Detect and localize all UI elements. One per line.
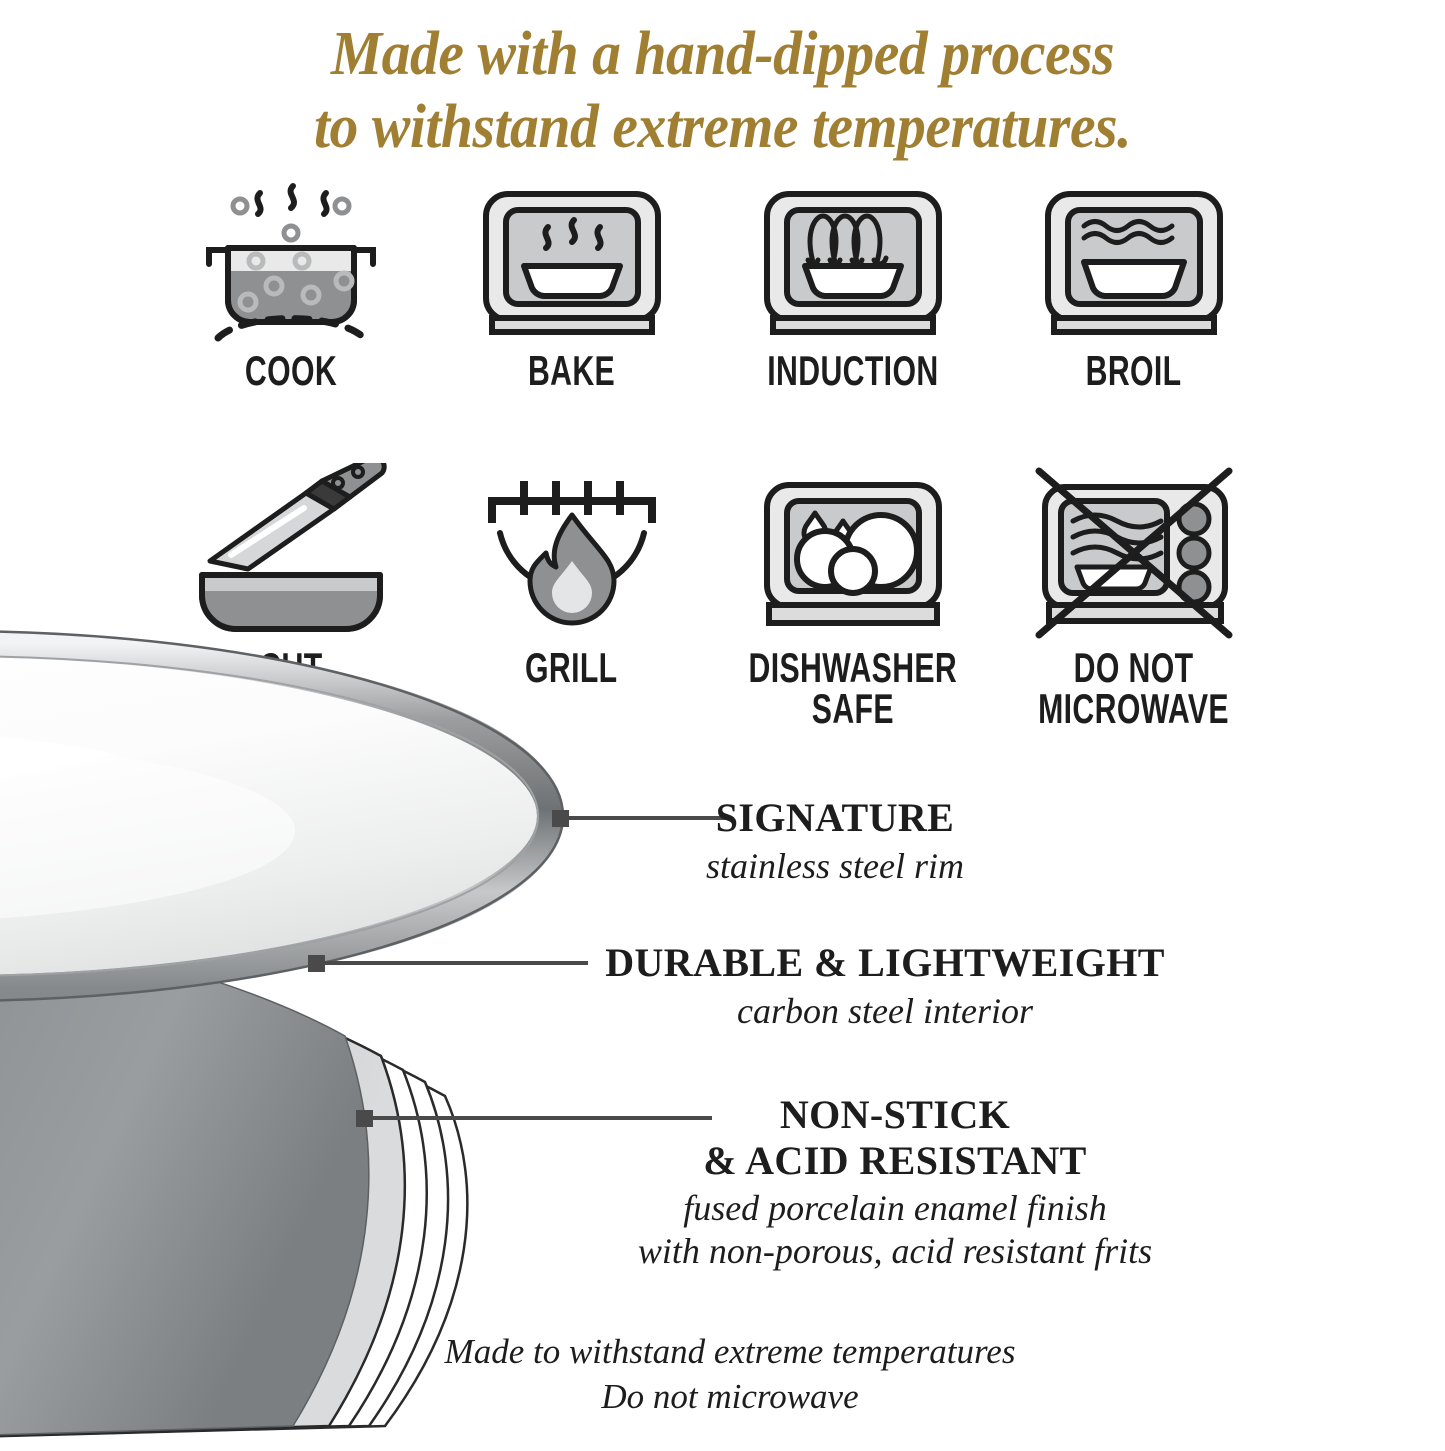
callout-title-line-1: NON-STICK [780,1092,1010,1137]
icon-row-1: COOK [150,176,1350,391]
callout-subtitle-line-1: stainless steel rim [625,845,1045,888]
icon-label-text: COOK [244,347,336,394]
cookware-illustration [0,626,645,1446]
icon-cell-cook: COOK [150,176,431,391]
icon-label-broil: BROIL [1086,350,1182,391]
callout-subtitle-line-1: fused porcelain enamel finish [545,1187,1245,1230]
icon-cell-induction: INDUCTION [712,176,993,391]
footer-line-1: Made to withstand extreme temperatures [420,1330,1040,1375]
icon-label-text: INDUCTION [767,347,938,394]
callout-title: SIGNATURE [625,795,1045,841]
icon-label-text: BAKE [528,347,615,394]
callout-signature: SIGNATURE stainless steel rim [625,795,1045,888]
callout-title-line-1: SIGNATURE [716,795,954,840]
induction-icon [753,176,953,344]
bake-icon [472,176,672,344]
callout-title: NON-STICK & ACID RESISTANT [545,1092,1245,1183]
callout-subtitle-line-1: carbon steel interior [585,990,1185,1033]
icon-cell-bake: BAKE [431,176,712,391]
callout-title-line-2: & ACID RESISTANT [545,1138,1245,1184]
icon-label-cook: COOK [244,350,336,391]
icon-label-bake: BAKE [528,350,615,391]
page-title: Made with a hand-dipped process to withs… [51,18,1395,164]
icon-label-text: DISHWASHER [748,644,957,691]
icon-label-text: BROIL [1086,347,1182,394]
callout-durable-lightweight: DURABLE & LIGHTWEIGHT carbon steel inter… [585,940,1185,1033]
grill-icon [472,463,672,641]
icon-label-dishwasher-safe: DISHWASHER SAFE [748,647,957,729]
callout-subtitle-line-2: with non-porous, acid resistant frits [545,1230,1245,1273]
infographic-canvas: Made with a hand-dipped process to withs… [0,0,1445,1445]
dishwasher-safe-icon [753,463,953,641]
headline-line-2: to withstand extreme temperatures. [51,91,1395,164]
icon-label-induction: INDUCTION [767,350,938,391]
icon-label-do-not-microwave: DO NOT MICROWAVE [1038,647,1229,729]
footer-note: Made to withstand extreme temperatures D… [420,1330,1040,1420]
icon-label-text-2: SAFE [748,688,957,729]
broil-icon [1034,176,1234,344]
headline-line-1: Made with a hand-dipped process [331,20,1114,88]
callout-title-line-1: DURABLE & LIGHTWEIGHT [605,940,1165,985]
icon-label-text-2: MICROWAVE [1038,688,1229,729]
icon-cell-do-not-microwave: DO NOT MICROWAVE [993,463,1274,729]
cook-icon [196,176,386,344]
icon-cell-broil: BROIL [993,176,1274,391]
callout-subtitle: fused porcelain enamel finish with non-p… [545,1187,1245,1273]
callout-subtitle: stainless steel rim [625,845,1045,888]
callout-title: DURABLE & LIGHTWEIGHT [585,940,1185,986]
callout-non-stick-acid-resistant: NON-STICK & ACID RESISTANT fused porcela… [545,1092,1245,1274]
callout-subtitle: carbon steel interior [585,990,1185,1033]
icon-cell-dishwasher-safe: DISHWASHER SAFE [712,463,993,729]
do-not-microwave-icon [1029,463,1239,641]
icon-label-text: DO NOT [1074,644,1194,691]
footer-line-2: Do not microwave [420,1375,1040,1420]
cut-icon [186,463,396,641]
